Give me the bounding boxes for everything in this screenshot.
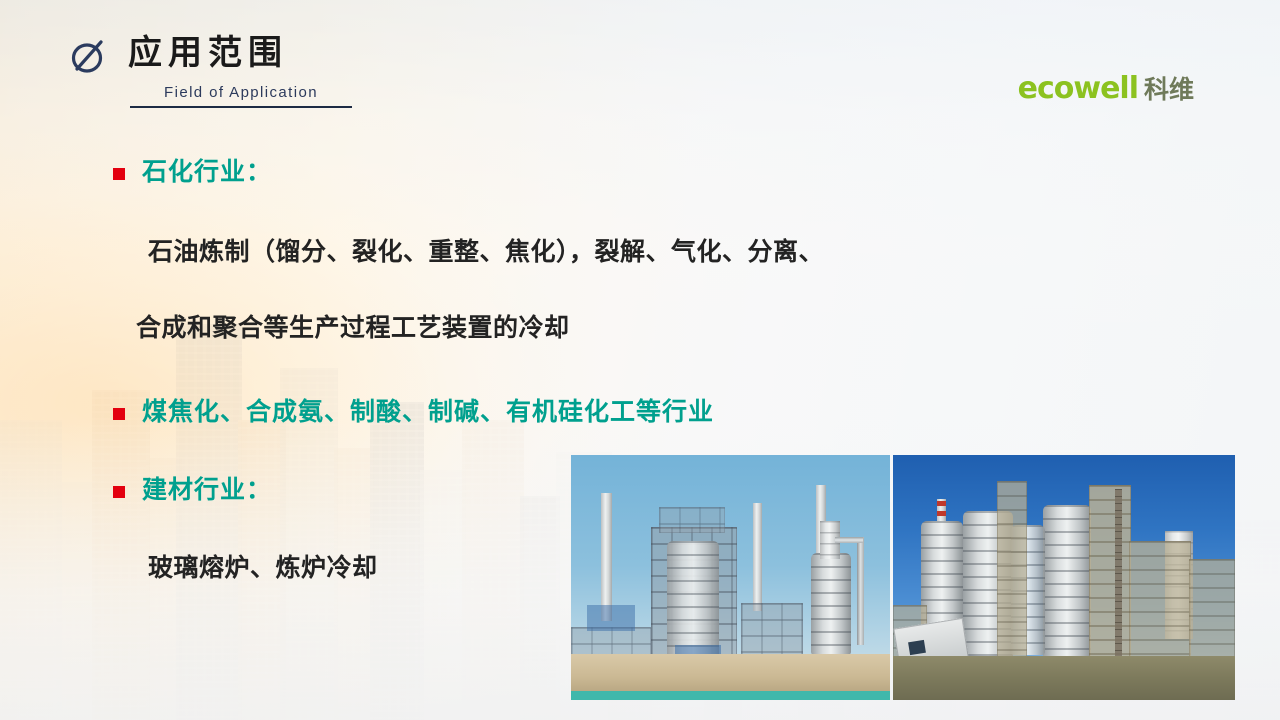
- square-bullet-icon: [113, 486, 125, 498]
- building-materials-detail-line-1: 玻璃熔炉、炼炉冷却: [148, 552, 378, 585]
- petrochemical-text-1: 石油炼制（馏分、裂化、重整、焦化），裂解、气化、分离、: [148, 236, 824, 269]
- petrochemical-refinery-photo: [571, 455, 890, 700]
- building-materials-text-1: 玻璃熔炉、炼炉冷却: [148, 552, 378, 585]
- bullet-item-coal-chemical: 煤焦化、合成氨、制酸、制碱、有机硅化工等行业: [113, 396, 714, 429]
- square-bullet-icon: [113, 168, 125, 180]
- petrochemical-heading: 石化行业：: [142, 156, 272, 189]
- industrial-plant-photo: [893, 455, 1235, 700]
- bullet-item-petrochemical: 石化行业：: [113, 156, 272, 189]
- coal-chemical-heading: 煤焦化、合成氨、制酸、制碱、有机硅化工等行业: [142, 396, 714, 429]
- photo-accent-strip: [571, 691, 890, 700]
- slide-root: 应用范围 Field of Application ecowell 科维 石化行…: [0, 0, 1280, 720]
- petrochemical-text-2: 合成和聚合等生产过程工艺装置的冷却: [136, 312, 570, 345]
- bullet-item-building-materials: 建材行业：: [113, 474, 272, 507]
- petrochemical-detail-line-2: 合成和聚合等生产过程工艺装置的冷却: [136, 312, 570, 345]
- square-bullet-icon: [113, 408, 125, 420]
- building-materials-heading: 建材行业：: [142, 474, 272, 507]
- photo-strip: [571, 455, 1235, 700]
- petrochemical-detail-line-1: 石油炼制（馏分、裂化、重整、焦化），裂解、气化、分离、: [148, 236, 824, 269]
